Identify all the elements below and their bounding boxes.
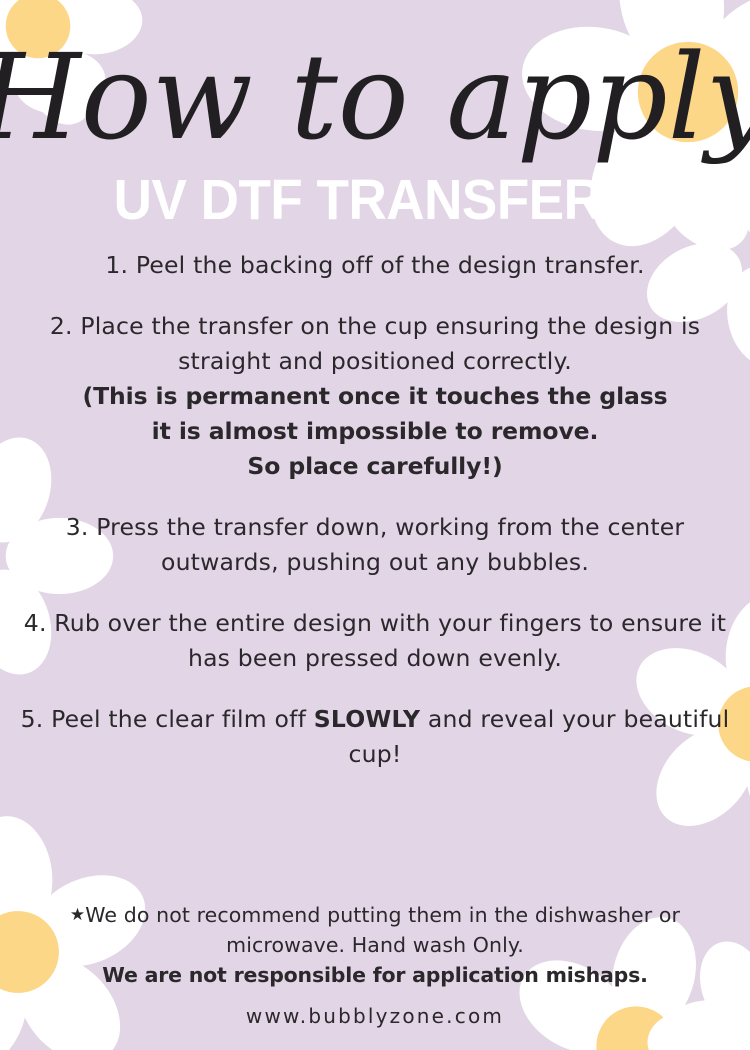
step-5-text-before: 5. Peel the clear film off — [21, 705, 314, 733]
step-1: 1. Peel the backing off of the design tr… — [18, 248, 732, 283]
step-3-text: 3. Press the transfer down, working from… — [66, 513, 685, 576]
step-5: 5. Peel the clear film off SLOWLY and re… — [18, 702, 732, 772]
script-headline-text: How to apply — [0, 28, 750, 166]
step-2: 2. Place the transfer on the cup ensurin… — [18, 309, 732, 484]
step-3: 3. Press the transfer down, working from… — [18, 510, 732, 580]
star-icon: ★ — [70, 905, 85, 925]
step-2-note-line-1: (This is permanent once it touches the g… — [82, 382, 667, 410]
website-url[interactable]: www.bubblyzone.com — [0, 1004, 750, 1028]
poster-root: How to apply UV DTF TRANSFERS 1. Peel th… — [0, 0, 750, 1050]
steps-list: 1. Peel the backing off of the design tr… — [18, 248, 732, 772]
step-2-note-line-3: So place carefully!) — [247, 452, 502, 480]
poster-content: How to apply UV DTF TRANSFERS 1. Peel th… — [0, 0, 750, 1050]
step-2-note-line-2: it is almost impossible to remove. — [152, 417, 599, 445]
disclaimer-line-1: ★We do not recommend putting them in the… — [22, 900, 728, 930]
step-2-text: 2. Place the transfer on the cup ensurin… — [50, 312, 700, 375]
step-4: 4. Rub over the entire design with your … — [18, 606, 732, 676]
step-4-text: 4. Rub over the entire design with your … — [24, 609, 726, 672]
disclaimer-line-3: We are not responsible for application m… — [22, 960, 728, 990]
disclaimer-line-2: microwave. Hand wash Only. — [22, 930, 728, 960]
step-5-emphasis: SLOWLY — [314, 705, 421, 733]
script-headline: How to apply — [0, 6, 750, 181]
disclaimer-line-1-text: We do not recommend putting them in the … — [85, 903, 680, 927]
disclaimer-block: ★We do not recommend putting them in the… — [22, 900, 728, 990]
step-1-text: 1. Peel the backing off of the design tr… — [105, 251, 644, 279]
